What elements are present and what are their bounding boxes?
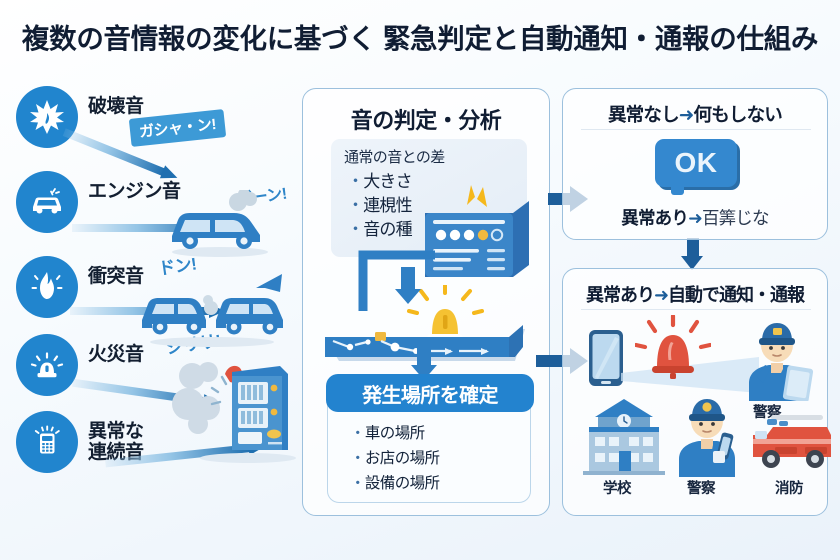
anomaly-strong: 異常あり bbox=[621, 208, 688, 228]
notification-strong: 異常あり bbox=[586, 285, 654, 305]
no-anomaly-heading: 異常なし➜何もしない bbox=[563, 101, 827, 127]
fire-truck-icon bbox=[749, 413, 835, 475]
police-officer-tablet-icon bbox=[735, 317, 817, 401]
school-building-icon bbox=[581, 397, 667, 475]
anomaly-line: 異常あり➜百筭じな bbox=[563, 205, 827, 230]
vending-machine-illustration bbox=[170, 346, 298, 466]
notification-panel: 異常あり➜自動で通知・通報 警察 bbox=[562, 268, 828, 516]
collision-illustration bbox=[136, 272, 288, 350]
no-anomaly-rest: 何もしない bbox=[694, 104, 783, 125]
sound-label: 破壊音 bbox=[88, 96, 144, 117]
divider bbox=[581, 309, 811, 310]
notify-target-label: 学校 bbox=[603, 477, 631, 498]
list-item: 音の種 bbox=[347, 218, 412, 242]
page-title: 複数の音情報の変化に基づく 緊急判定と自動通知・通報の仕組み bbox=[0, 16, 840, 56]
police-officer-phone-icon bbox=[669, 393, 747, 477]
list-item: 連梘性 bbox=[347, 194, 412, 218]
arrow-glyph: ➜ bbox=[654, 285, 668, 305]
connector-arrow-ok-to-notify bbox=[680, 238, 706, 272]
list-item: 車の場所 bbox=[350, 421, 439, 446]
siren-icon bbox=[16, 334, 78, 396]
list-item: お店の場所 bbox=[350, 446, 439, 471]
flame-icon bbox=[16, 256, 78, 318]
ok-badge: OK bbox=[655, 139, 737, 187]
red-alarm-bell-icon bbox=[635, 315, 711, 389]
notification-heading: 異常あり➜自動で通知・通報 bbox=[563, 281, 827, 307]
sound-inputs-column: 破壊音 ガシャ・ン! エンジン音 ブーン! 衝突音 ドン! bbox=[0, 86, 300, 526]
divider bbox=[581, 129, 811, 130]
list-item: 設備の場所 bbox=[350, 471, 439, 496]
sound-row: 破壊音 ガシャ・ン! bbox=[8, 86, 300, 166]
anomaly-rest: 百筭じな bbox=[702, 208, 769, 228]
arrow-glyph: ➜ bbox=[688, 208, 702, 228]
no-anomaly-strong: 異常なし bbox=[608, 104, 679, 125]
arrow-glyph: ➜ bbox=[679, 104, 694, 125]
location-result-box: 発生場所を確定 車の場所 お店の場所 設備の場所 bbox=[327, 375, 531, 503]
car-engine-icon bbox=[16, 171, 78, 233]
location-item-list: 車の場所 お店の場所 設備の場所 bbox=[350, 421, 439, 496]
notify-target-label: 消防 bbox=[775, 477, 803, 498]
down-arrow bbox=[395, 267, 421, 303]
list-item: 大きさ bbox=[347, 170, 412, 194]
analysis-item-list: 大きさ 連梘性 音の種 bbox=[347, 170, 412, 242]
location-title: 発生場所を確定 bbox=[326, 374, 534, 412]
analysis-panel: 音の判定・分析 通常の音との差 大きさ 連梘性 音の種 bbox=[302, 88, 550, 516]
no-anomaly-panel: 異常なし➜何もしない OK 異常あり➜百筭じな bbox=[562, 88, 828, 240]
notify-target-label: 警察 bbox=[687, 477, 715, 498]
analysis-panel-title: 音の判定・分析 bbox=[303, 103, 549, 135]
analysis-heading: 通常の音との差 bbox=[344, 146, 445, 167]
notification-rest: 自動で通知・通報 bbox=[668, 285, 804, 305]
car-illustration bbox=[152, 190, 282, 260]
keypad-phone-icon bbox=[16, 411, 78, 473]
